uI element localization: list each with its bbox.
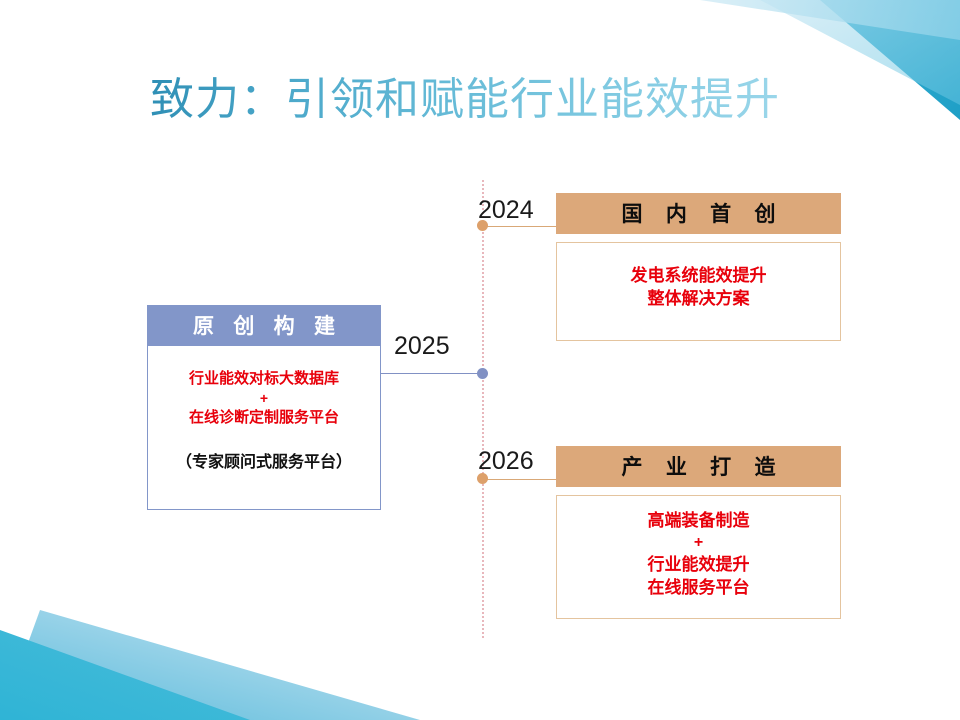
connector-2025: [381, 373, 481, 374]
card-original-note: （专家顾问式服务平台）: [148, 448, 380, 472]
card-original-header: 原 创 构 建: [147, 305, 381, 346]
card-original-line2: 在线诊断定制服务平台: [148, 407, 380, 429]
card-first-in-china-line2: 整体解决方案: [557, 288, 840, 311]
year-label-2024: 2024: [478, 196, 534, 225]
card-industry-build-line2: 行业能效提升: [557, 554, 840, 577]
connector-2024: [485, 226, 557, 227]
timeline-node-2025[interactable]: [477, 368, 488, 379]
card-original-line1: 行业能效对标大数据库: [148, 368, 380, 390]
card-first-in-china-header: 国 内 首 创: [556, 193, 841, 234]
card-industry-build-header: 产 业 打 造: [556, 446, 841, 487]
card-industry-build-line3: 在线服务平台: [557, 577, 840, 600]
year-label-2026: 2026: [478, 447, 534, 476]
card-industry-build-plus: +: [557, 533, 840, 554]
slide-canvas: 致力：引领和赋能行业能效提升 2024 2025 2026 原 创 构 建 行业…: [0, 0, 960, 720]
timeline-axis: [482, 180, 484, 638]
card-industry-build-body: 高端装备制造 + 行业能效提升 在线服务平台: [556, 495, 841, 619]
card-industry-build: 产 业 打 造 高端装备制造 + 行业能效提升 在线服务平台: [556, 446, 841, 619]
card-original-plus: +: [148, 390, 380, 407]
card-industry-build-line1: 高端装备制造: [557, 510, 840, 533]
card-original-construction: 原 创 构 建 行业能效对标大数据库 + 在线诊断定制服务平台 （专家顾问式服务…: [147, 305, 381, 510]
page-title: 致力：引领和赋能行业能效提升: [150, 72, 780, 127]
connector-2026: [485, 479, 557, 480]
year-label-2025: 2025: [394, 332, 450, 361]
card-first-in-china: 国 内 首 创 发电系统能效提升 整体解决方案: [556, 193, 841, 341]
card-original-body: 行业能效对标大数据库 + 在线诊断定制服务平台 （专家顾问式服务平台）: [147, 346, 381, 510]
card-first-in-china-line1: 发电系统能效提升: [557, 265, 840, 288]
decoration-bottom-left-icon: [0, 610, 420, 720]
card-first-in-china-body: 发电系统能效提升 整体解决方案: [556, 242, 841, 341]
